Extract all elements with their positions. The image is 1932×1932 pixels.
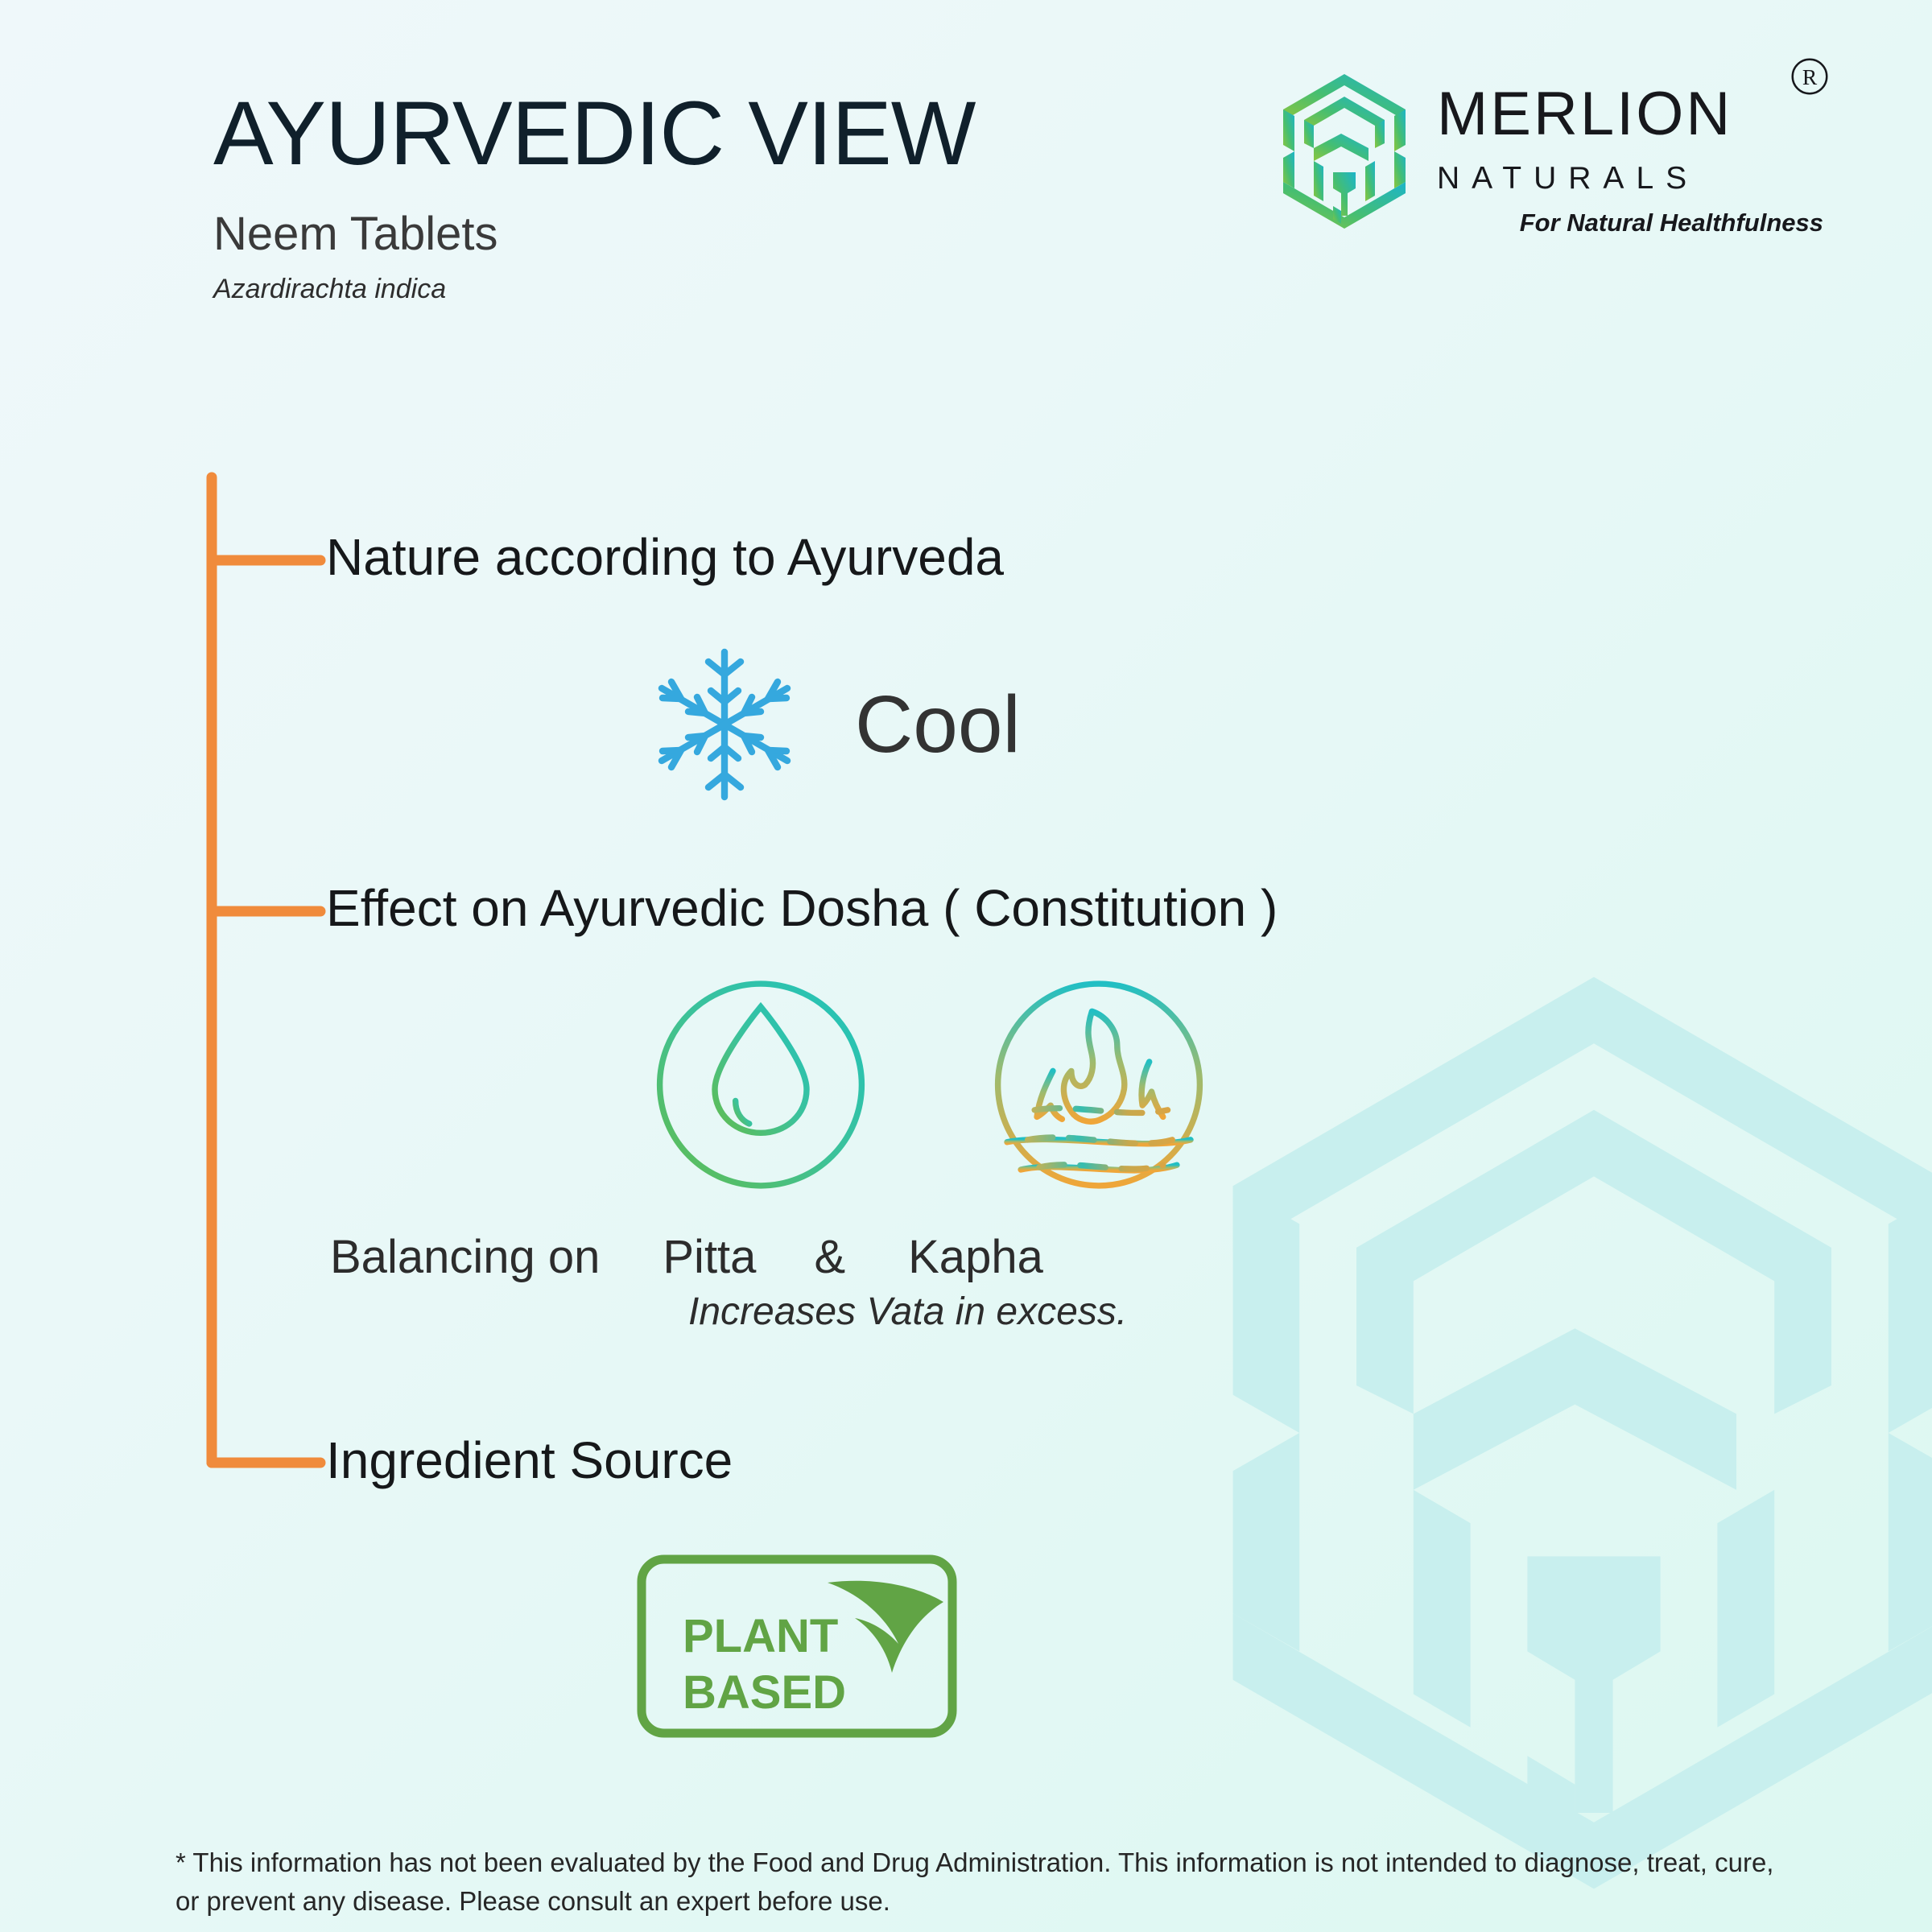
footer-disclaimer: * This information has not been evaluate…: [175, 1843, 1785, 1921]
merlion-logo-watermark: [1119, 958, 1932, 1908]
infographic-canvas: AYURVEDIC VIEW Neem Tablets Azardirachta…: [0, 0, 1932, 1932]
brand-subname: NATURALS: [1437, 163, 1823, 194]
section-label-dosha: Effect on Ayurvedic Dosha ( Constitution…: [326, 882, 1278, 934]
dosha-label-kapha: Kapha: [908, 1230, 1043, 1284]
section-label-source: Ingredient Source: [326, 1435, 733, 1486]
pitta-water-drop-icon: [644, 970, 877, 1199]
section-label-nature: Nature according to Ayurveda: [326, 531, 1004, 583]
orange-bracket-connector: [201, 471, 346, 1469]
title-block: AYURVEDIC VIEW Neem Tablets Azardirachta…: [213, 89, 975, 303]
dosha-label-pitta: Pitta: [663, 1230, 756, 1284]
header: AYURVEDIC VIEW Neem Tablets Azardirachta…: [0, 0, 1932, 266]
nature-value-text: Cool: [855, 684, 1021, 765]
snowflake-icon: [644, 644, 805, 805]
brand-name: MERLION: [1437, 84, 1823, 145]
plant-badge-line1: PLANT: [683, 1610, 838, 1662]
botanical-name: Azardirachta indica: [213, 275, 975, 303]
registered-trademark-icon: R: [1790, 56, 1830, 97]
kapha-flame-icon: [982, 970, 1216, 1199]
merlion-hexagon-icon: [1264, 71, 1425, 232]
product-name: Neem Tablets: [213, 211, 975, 258]
svg-text:R: R: [1802, 64, 1818, 89]
nature-value-row: Cool: [644, 644, 1021, 805]
dosha-label-row: Balancing on Pitta & Kapha: [330, 1230, 1043, 1284]
brand-wordmark: R MERLION NATURALS For Natural Healthful…: [1437, 63, 1823, 224]
plant-based-badge: PLANT BASED: [636, 1554, 958, 1739]
page-title: AYURVEDIC VIEW: [213, 89, 975, 179]
dosha-balancing-label: Balancing on: [330, 1230, 600, 1284]
brand-logo: R MERLION NATURALS For Natural Healthful…: [1264, 63, 1827, 240]
brand-tagline: For Natural Healthfulness: [1437, 210, 1823, 235]
plant-badge-line2: BASED: [683, 1666, 846, 1719]
dosha-vata-note: Increases Vata in excess.: [688, 1290, 1127, 1334]
dosha-icon-row: [644, 970, 1216, 1199]
dosha-conjunction: &: [814, 1230, 845, 1284]
